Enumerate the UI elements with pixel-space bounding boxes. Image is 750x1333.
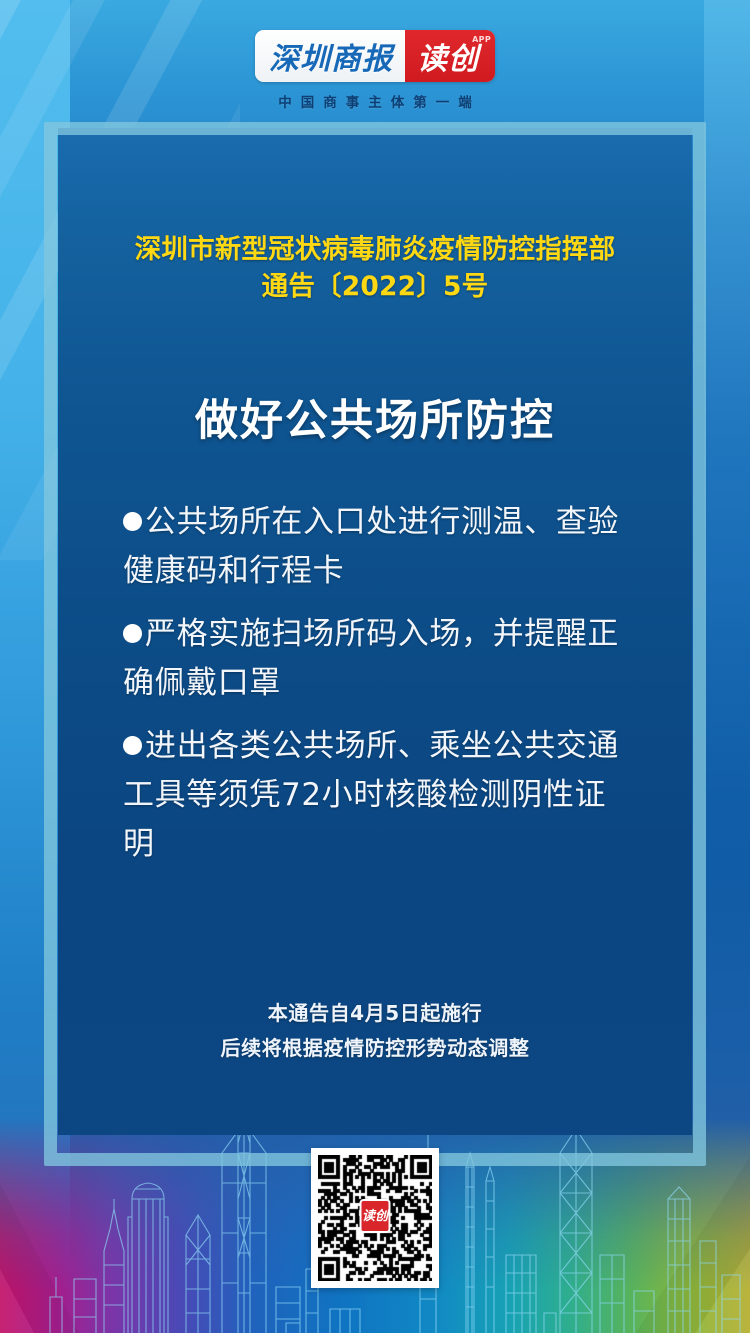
list-item: 进出各类公共场所、乘坐公共交通工具等须凭72小时核酸检测阴性证明 — [123, 722, 633, 869]
notice-footnotes: 本通告自4月5日起施行 后续将根据疫情防控形势动态调整 — [58, 996, 692, 1066]
notice-footnote-effective-date: 本通告自4月5日起施行 — [58, 996, 692, 1031]
notice-bullet-list: 公共场所在入口处进行测温、查验健康码和行程卡 严格实施扫场所码入场，并提醒正确佩… — [123, 498, 633, 883]
bullet-dot-icon — [123, 624, 142, 643]
qr-code-center-logo-text: 读创 — [362, 1210, 388, 1223]
poster-root: 深圳商报 读创 APP 中国商事主体第一端 深圳市新型冠状病毒肺炎疫情防控指挥部… — [0, 0, 750, 1333]
notice-title-line-2: 通告〔2022〕5号 — [80, 269, 670, 306]
list-item-text: 进出各类公共场所、乘坐公共交通工具等须凭72小时核酸检测阴性证明 — [123, 728, 619, 862]
list-item: 严格实施扫场所码入场，并提醒正确佩戴口罩 — [123, 610, 633, 708]
brand-logo-app-tag: APP — [472, 35, 491, 44]
list-item-text: 公共场所在入口处进行测温、查验健康码和行程卡 — [123, 504, 619, 589]
list-item: 公共场所在入口处进行测温、查验健康码和行程卡 — [123, 498, 633, 596]
notice-title: 深圳市新型冠状病毒肺炎疫情防控指挥部 通告〔2022〕5号 — [80, 232, 670, 305]
brand-logo-app: 读创 APP — [405, 30, 495, 82]
brand-logo[interactable]: 深圳商报 读创 APP — [255, 30, 495, 82]
brand-logo-newspaper: 深圳商报 — [255, 30, 405, 82]
notice-footnote-adjustment: 后续将根据疫情防控形势动态调整 — [58, 1031, 692, 1066]
notice-title-line-1: 深圳市新型冠状病毒肺炎疫情防控指挥部 — [80, 232, 670, 269]
qr-code-center-logo: 读创 — [360, 1199, 391, 1233]
list-item-text: 严格实施扫场所码入场，并提醒正确佩戴口罩 — [123, 616, 619, 701]
notice-content: 深圳市新型冠状病毒肺炎疫情防控指挥部 通告〔2022〕5号 做好公共场所防控 公… — [58, 128, 692, 1135]
notice-headline: 做好公共场所防控 — [58, 386, 692, 448]
brand-logo-app-text: 读创 — [417, 34, 479, 78]
bullet-dot-icon — [123, 512, 142, 531]
brand-logo-newspaper-text: 深圳商报 — [269, 34, 393, 78]
brand-slogan: 中国商事主体第一端 — [269, 91, 481, 111]
bullet-dot-icon — [123, 736, 142, 755]
qr-code[interactable]: 读创 — [311, 1148, 439, 1288]
masthead: 深圳商报 读创 APP 中国商事主体第一端 — [0, 30, 750, 111]
